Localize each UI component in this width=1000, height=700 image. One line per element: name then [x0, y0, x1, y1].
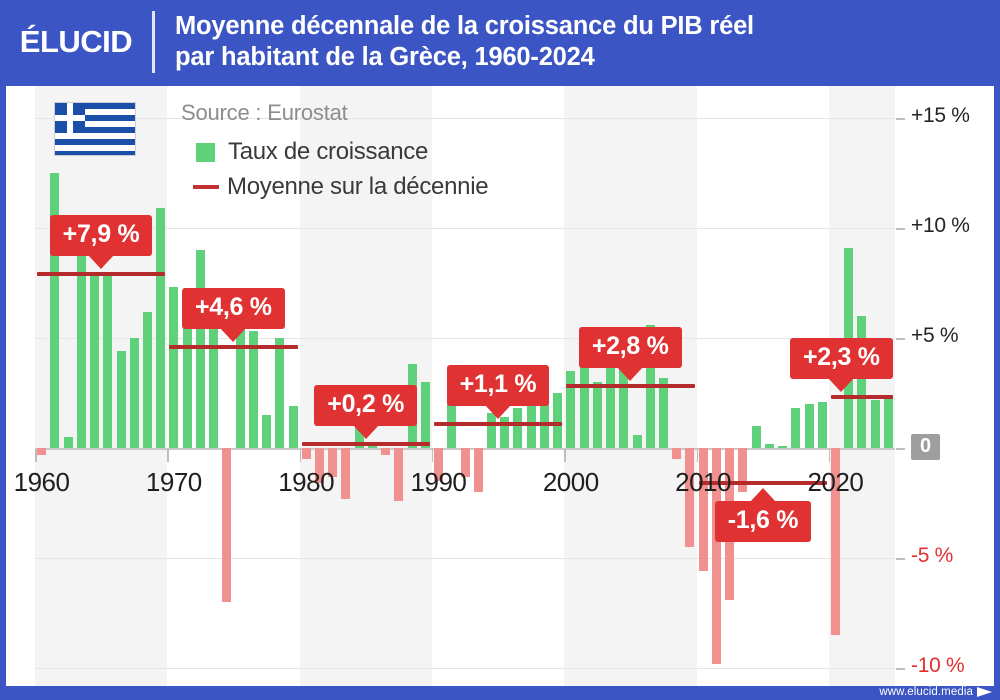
bar	[566, 371, 575, 448]
decade-average-line	[169, 345, 297, 349]
y-tick-mark	[896, 558, 905, 560]
y-axis-tick-label: +10 %	[911, 214, 970, 238]
bar	[593, 382, 602, 448]
flag-canton	[55, 103, 85, 133]
callout-tail	[617, 367, 643, 381]
bar	[818, 402, 827, 448]
decade-average-line	[434, 422, 562, 426]
bar	[130, 338, 139, 448]
legend-item-growth: Taux de croissance	[196, 138, 488, 166]
decade-average-line	[566, 384, 694, 388]
callout-tail	[88, 255, 114, 269]
title-line-2: par habitant de la Grèce, 1960-2024	[175, 42, 986, 73]
callout-tail	[353, 425, 379, 439]
bar	[143, 312, 152, 448]
callout-tail	[828, 378, 854, 392]
x-tick-mark	[829, 449, 831, 462]
bar	[196, 250, 205, 448]
y-tick-mark	[896, 228, 905, 230]
bar	[394, 448, 403, 501]
bar	[169, 287, 178, 448]
bar	[64, 437, 73, 448]
y-tick-mark	[896, 668, 905, 670]
decade-average-callout: +1,1 %	[447, 365, 550, 406]
x-axis-tick-label: 2020	[807, 467, 863, 498]
bar	[633, 435, 642, 448]
bar	[289, 406, 298, 448]
legend-item-average: Moyenne sur la décennie	[196, 173, 488, 201]
bar	[765, 444, 774, 448]
x-tick-mark	[564, 449, 566, 462]
header-bar: ÉLUCID Moyenne décennale de la croissanc…	[0, 0, 1000, 84]
bar	[778, 446, 787, 448]
elucid-logo: ÉLUCID	[0, 0, 152, 84]
green-square-icon	[196, 143, 215, 162]
decade-average-label: +0,2 %	[327, 390, 404, 418]
chart-legend: Taux de croissance Moyenne sur la décenn…	[196, 138, 488, 208]
bar	[381, 448, 390, 455]
decade-average-label: +1,1 %	[460, 370, 537, 398]
bar	[222, 448, 231, 602]
bar	[156, 208, 165, 448]
bar	[857, 316, 866, 448]
bar	[884, 395, 893, 448]
bar	[302, 448, 311, 459]
decade-average-line	[302, 442, 430, 446]
watermark-text: www.elucid.media	[879, 686, 973, 698]
y-axis-tick-label: +5 %	[911, 324, 958, 348]
y-axis-tick-label: +15 %	[911, 104, 970, 128]
decade-average-callout: +2,8 %	[579, 327, 682, 368]
x-axis-tick-label: 1990	[411, 467, 467, 498]
x-axis-tick-label: 1970	[146, 467, 202, 498]
chart-panel: +7,9 %+4,6 %+0,2 %+1,1 %+2,8 %-1,6 %+2,3…	[6, 86, 994, 686]
callout-tail	[750, 488, 776, 502]
x-axis-tick-label: 1980	[278, 467, 334, 498]
gridline	[35, 558, 895, 559]
y-axis-tick-label: 0	[911, 434, 940, 460]
bar	[183, 309, 192, 448]
watermark: www.elucid.media	[879, 686, 992, 698]
bar	[752, 426, 761, 448]
bar	[103, 276, 112, 448]
bar	[553, 393, 562, 448]
decade-average-label: +7,9 %	[63, 220, 140, 248]
x-axis-tick-label: 1960	[14, 467, 70, 498]
bar	[672, 448, 681, 459]
bar	[117, 351, 126, 448]
callout-tail	[220, 328, 246, 342]
decade-average-line	[831, 395, 893, 399]
decade-average-callout: +2,3 %	[790, 338, 893, 379]
decade-average-label: +2,8 %	[592, 332, 669, 360]
bar	[659, 378, 668, 448]
legend-label-growth: Taux de croissance	[228, 138, 428, 166]
y-tick-mark	[896, 448, 905, 450]
decade-average-line	[37, 272, 165, 276]
x-axis-tick-label: 2000	[543, 467, 599, 498]
page-title: Moyenne décennale de la croissance du PI…	[155, 11, 1000, 72]
decade-average-label: +4,6 %	[195, 293, 272, 321]
bar	[871, 400, 880, 448]
x-axis-tick-label: 2010	[675, 467, 731, 498]
arrow-icon	[977, 687, 992, 697]
decade-average-callout: +4,6 %	[182, 288, 285, 329]
x-tick-mark	[697, 449, 699, 462]
y-axis-tick-label: -10 %	[911, 654, 964, 678]
y-axis-tick-label: -5 %	[911, 544, 953, 568]
decade-average-callout: +7,9 %	[50, 215, 153, 256]
gridline	[35, 668, 895, 669]
title-line-1: Moyenne décennale de la croissance du PI…	[175, 11, 986, 42]
bar	[421, 382, 430, 448]
bar	[474, 448, 483, 492]
x-tick-mark	[35, 449, 37, 462]
greece-flag-icon	[54, 102, 136, 156]
y-tick-mark	[896, 338, 905, 340]
bar	[37, 448, 46, 455]
bar	[249, 331, 258, 448]
bar	[738, 448, 747, 492]
decade-average-label: +2,3 %	[803, 343, 880, 371]
bar	[262, 415, 271, 448]
bar	[791, 408, 800, 448]
decade-average-label: -1,6 %	[728, 506, 798, 534]
bar	[341, 448, 350, 499]
decade-average-callout: +0,2 %	[314, 385, 417, 426]
bar	[275, 338, 284, 448]
x-tick-mark	[167, 449, 169, 462]
decade-average-callout: -1,6 %	[715, 501, 811, 542]
x-tick-mark	[300, 449, 302, 462]
bar	[805, 404, 814, 448]
y-tick-mark	[896, 118, 905, 120]
bar	[580, 364, 589, 448]
infographic-page: ÉLUCID Moyenne décennale de la croissanc…	[0, 0, 1000, 700]
bar	[513, 408, 522, 448]
header-divider	[152, 11, 155, 73]
red-line-icon	[193, 185, 219, 189]
bar	[90, 274, 99, 448]
gridline	[35, 118, 895, 119]
callout-tail	[485, 405, 511, 419]
x-tick-mark	[432, 449, 434, 462]
legend-label-average: Moyenne sur la décennie	[227, 173, 488, 201]
source-label: Source : Eurostat	[181, 100, 348, 126]
